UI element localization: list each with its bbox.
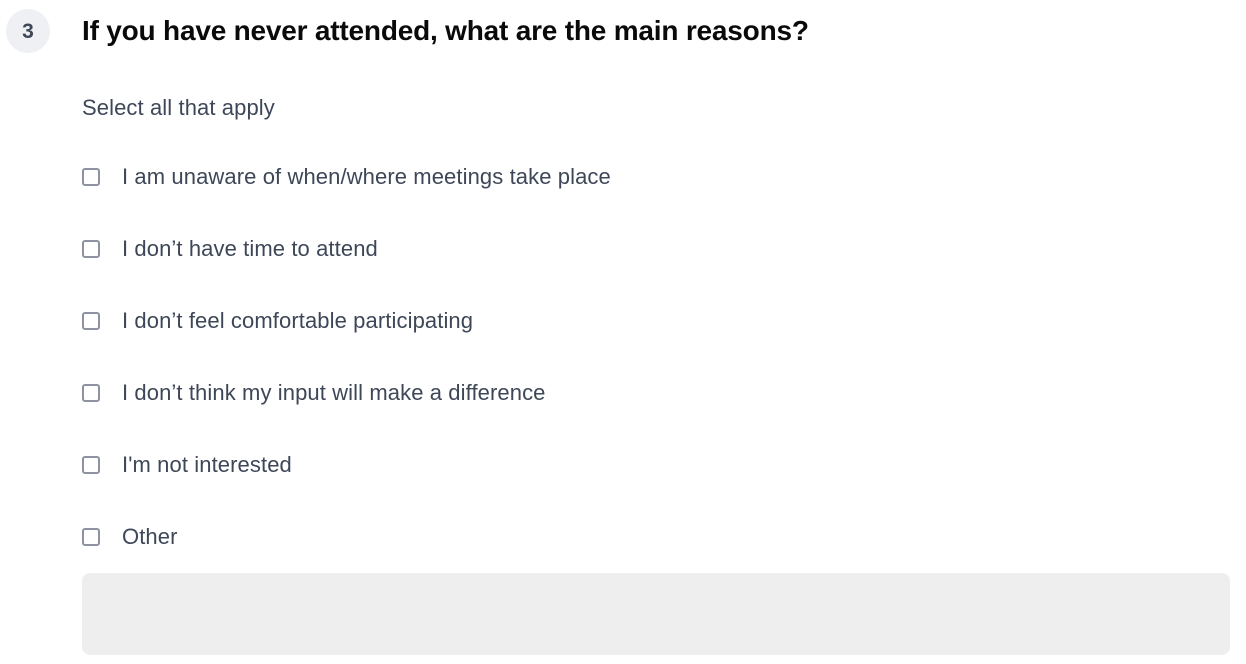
- checkbox-options-list: I am unaware of when/where meetings take…: [82, 164, 1232, 596]
- question-number-badge: 3: [6, 9, 50, 53]
- checkbox-option-row[interactable]: I don’t have time to attend: [82, 236, 1232, 308]
- checkbox-unchecked-icon[interactable]: [82, 384, 100, 402]
- checkbox-option-row[interactable]: I don’t feel comfortable participating: [82, 308, 1232, 380]
- checkbox-unchecked-icon[interactable]: [82, 528, 100, 546]
- checkbox-option-label: I am unaware of when/where meetings take…: [122, 164, 611, 190]
- question-number-label: 3: [22, 21, 34, 42]
- question-helper-text: Select all that apply: [82, 94, 275, 123]
- checkbox-option-row[interactable]: I am unaware of when/where meetings take…: [82, 164, 1232, 236]
- checkbox-option-label: Other: [122, 524, 178, 550]
- checkbox-unchecked-icon[interactable]: [82, 240, 100, 258]
- checkbox-option-row[interactable]: I don’t think my input will make a diffe…: [82, 380, 1232, 452]
- checkbox-unchecked-icon[interactable]: [82, 456, 100, 474]
- checkbox-unchecked-icon[interactable]: [82, 312, 100, 330]
- checkbox-option-label: I'm not interested: [122, 452, 292, 478]
- question-block: 3 If you have never attended, what are t…: [0, 0, 1246, 664]
- checkbox-unchecked-icon[interactable]: [82, 168, 100, 186]
- question-title: If you have never attended, what are the…: [82, 14, 1202, 48]
- checkbox-option-label: I don’t have time to attend: [122, 236, 378, 262]
- checkbox-option-row[interactable]: I'm not interested: [82, 452, 1232, 524]
- checkbox-option-label: I don’t think my input will make a diffe…: [122, 380, 546, 406]
- other-text-input[interactable]: [82, 573, 1230, 655]
- checkbox-option-label: I don’t feel comfortable participating: [122, 308, 473, 334]
